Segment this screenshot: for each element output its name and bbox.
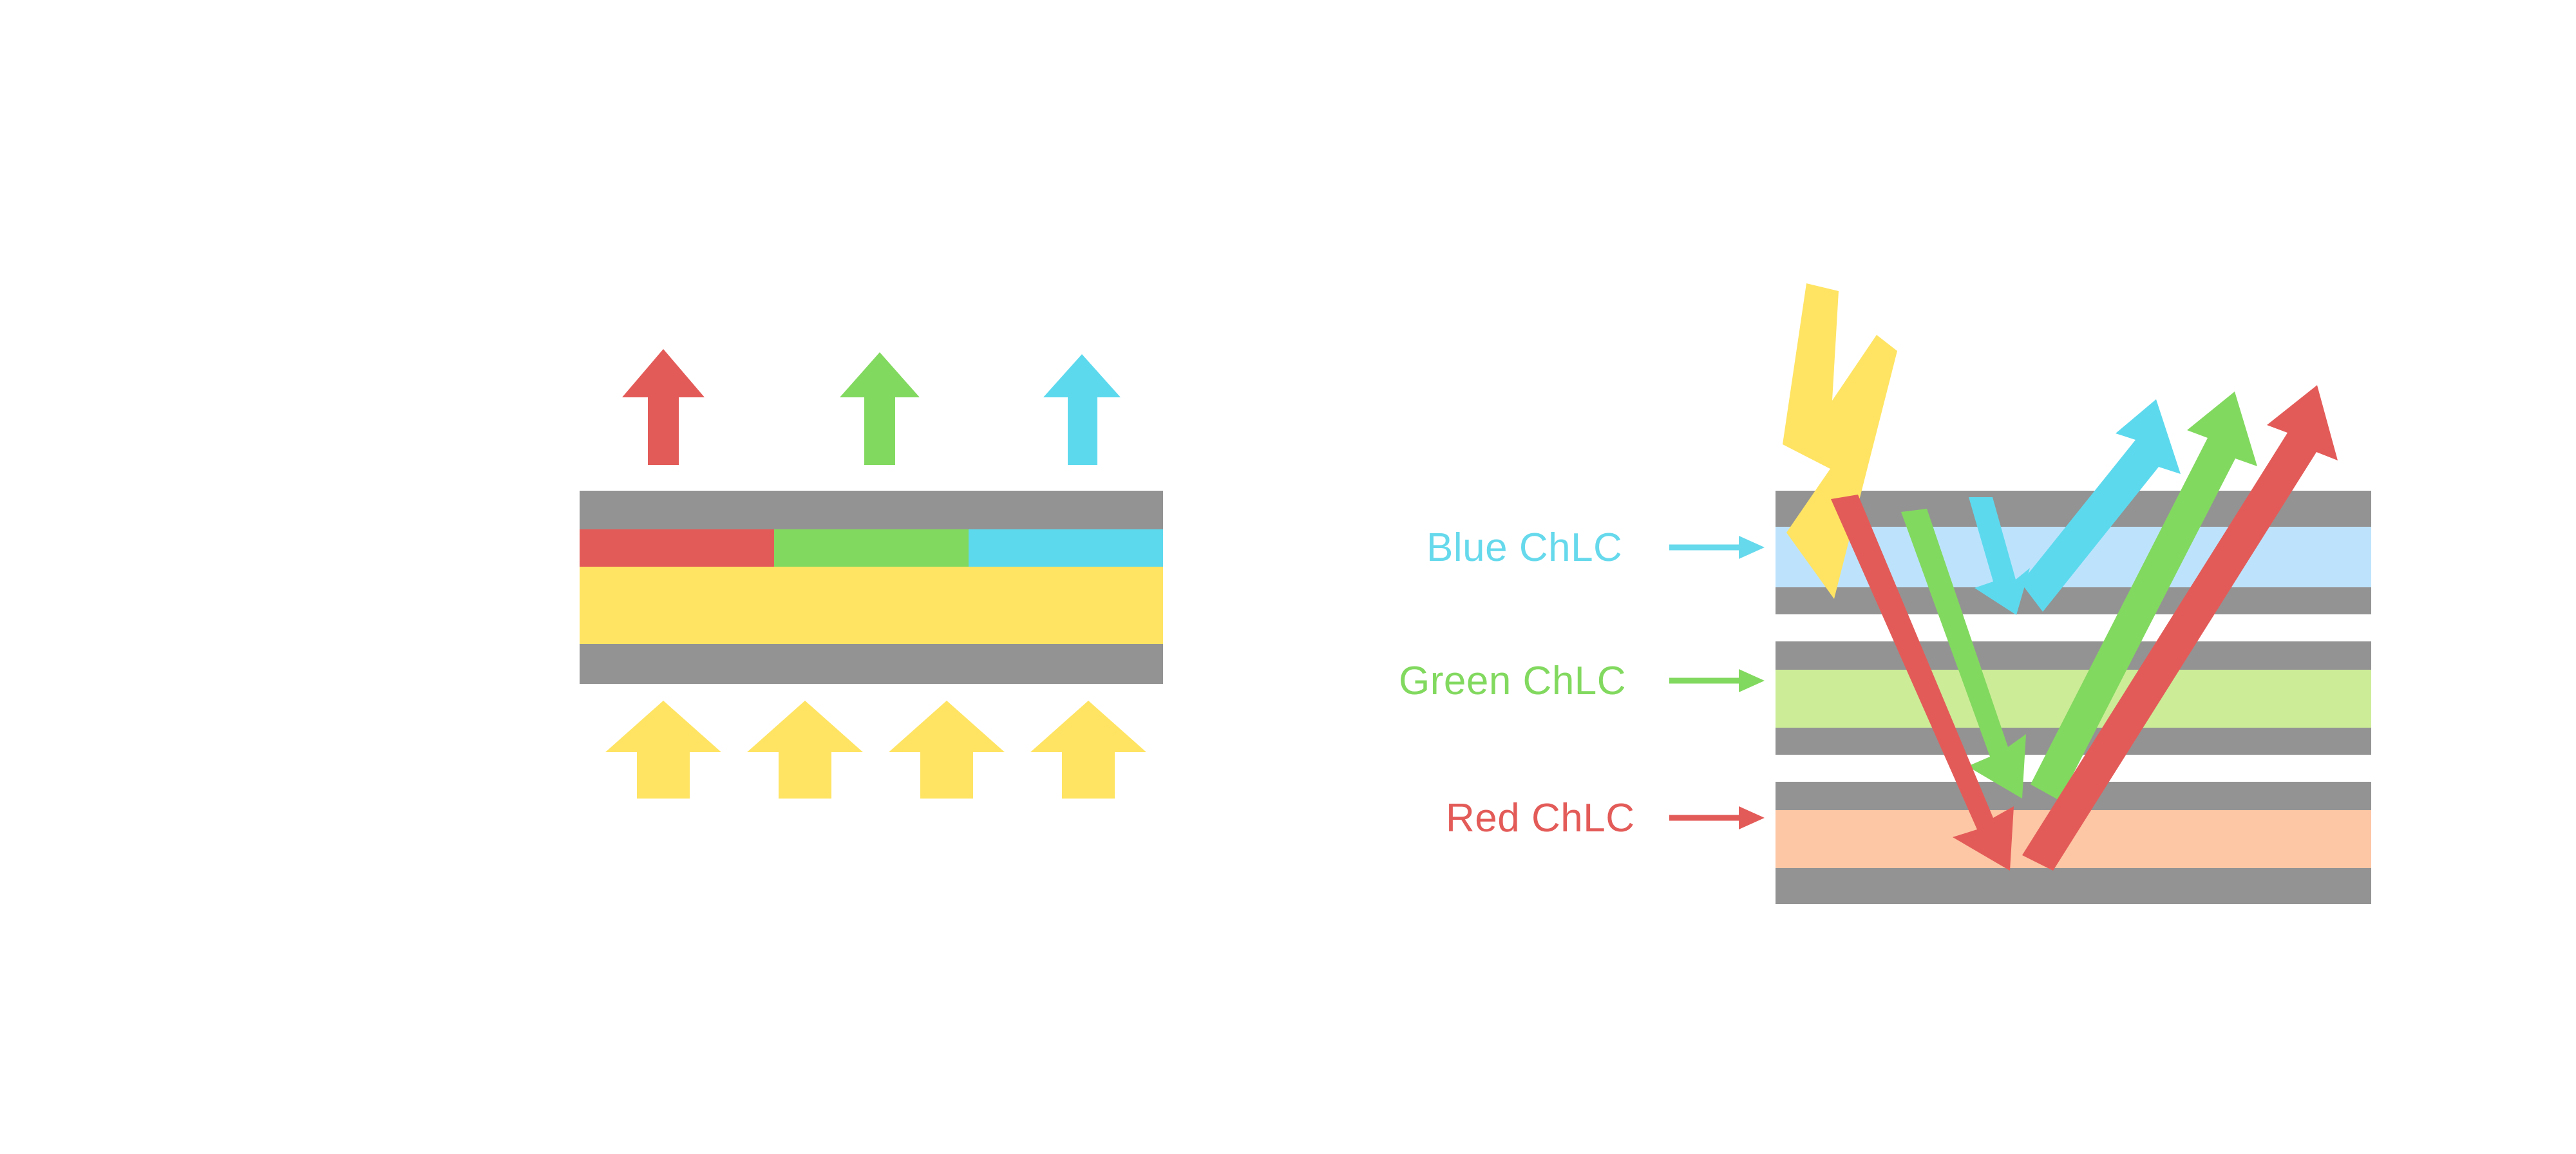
left-stack-group (580, 491, 1163, 684)
red-chlc-label-arrow (1669, 806, 1765, 829)
left-emitted-arrows-group (622, 349, 1121, 465)
left-bottom-barrier (580, 644, 1163, 684)
backlight-arrow-2 (747, 701, 863, 799)
backlight-arrow-4 (1030, 701, 1146, 799)
left-green-filter-segment (774, 529, 969, 567)
left-top-barrier (580, 491, 1163, 529)
left-panel-group (580, 349, 1163, 799)
backlight-arrow-1 (605, 701, 721, 799)
right-barrier-6 (1776, 868, 2371, 904)
red-chlc-label: Red ChLC (1446, 799, 1634, 838)
red-emitted-arrow (622, 349, 705, 465)
right-panel-group (1669, 283, 2371, 904)
right-gap-1 (1776, 614, 2371, 641)
left-red-filter-segment (580, 529, 774, 567)
green-emitted-arrow (840, 352, 920, 465)
right-barrier-3 (1776, 641, 2371, 670)
blue-chlc-label: Blue ChLC (1426, 528, 1622, 568)
backlight-arrow-3 (889, 701, 1005, 799)
diagram-canvas: Blue ChLC Green ChLC Red ChLC (0, 0, 2576, 1154)
right-label-arrows-group (1669, 536, 1765, 829)
green-chlc-label-arrow (1669, 669, 1765, 692)
right-barrier-2 (1776, 587, 2371, 614)
cyan-emitted-arrow (1043, 354, 1121, 465)
blue-chlc-label-arrow (1669, 536, 1765, 559)
left-yellow-backlight-layer (580, 567, 1163, 644)
left-backlight-arrows-group (605, 701, 1146, 799)
diagram-svg (0, 0, 2576, 1154)
left-blue-filter-segment (969, 529, 1163, 567)
green-chlc-label: Green ChLC (1399, 661, 1626, 701)
